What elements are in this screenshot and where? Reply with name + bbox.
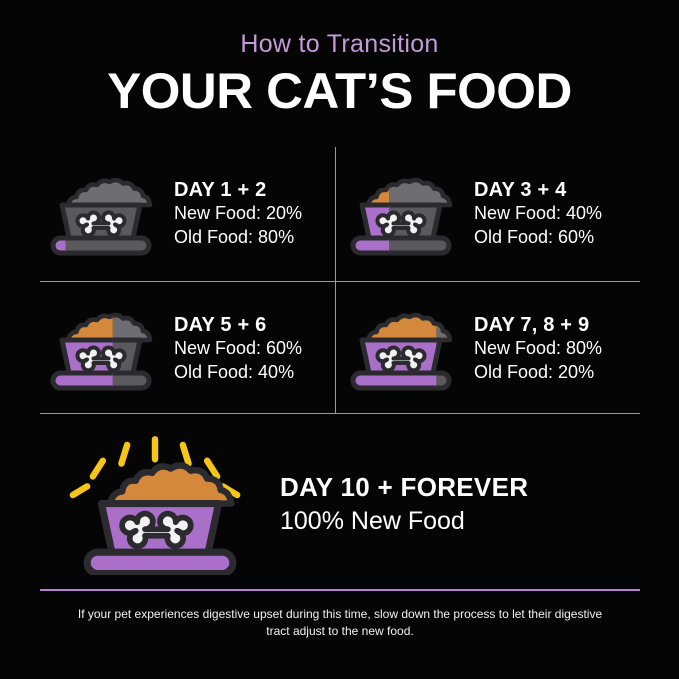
footer-note: If your pet experiences digestive upset … [70, 606, 610, 641]
cat-food-bowl-icon [65, 435, 245, 575]
header: How to Transition YOUR CAT’S FOOD [0, 30, 679, 117]
step-day-label: DAY 7, 8 + 9 [474, 314, 602, 337]
step-old-food: Old Food: 60% [474, 226, 602, 249]
bowl-wrap [340, 303, 462, 395]
bowl-wrap [40, 168, 162, 260]
step-text: DAY 5 + 6 New Food: 60% Old Food: 40% [162, 314, 302, 383]
step-old-food: Old Food: 20% [474, 361, 602, 384]
step-new-food: New Food: 80% [474, 337, 602, 360]
step-day-label: DAY 5 + 6 [174, 314, 302, 337]
step-new-food: New Food: 20% [174, 202, 302, 225]
cat-food-bowl-icon [342, 303, 460, 395]
step-card-day-7-8-9: DAY 7, 8 + 9 New Food: 80% Old Food: 20% [340, 282, 635, 416]
step-text: DAY 7, 8 + 9 New Food: 80% Old Food: 20% [462, 314, 602, 383]
kibble-old [68, 180, 150, 205]
bowl-wrap [40, 303, 162, 395]
cat-food-bowl-icon [42, 168, 160, 260]
step-card-day-5-6: DAY 5 + 6 New Food: 60% Old Food: 40% [40, 282, 335, 416]
infographic-page: How to Transition YOUR CAT’S FOOD [0, 0, 679, 679]
bowl-base-new [353, 373, 449, 388]
forever-subtitle: 100% New Food [280, 505, 528, 538]
cat-food-bowl-icon [42, 303, 160, 395]
cat-food-bowl-icon [342, 168, 460, 260]
step-text: DAY 3 + 4 New Food: 40% Old Food: 60% [462, 179, 602, 248]
step-day-label: DAY 3 + 4 [474, 179, 602, 202]
bowl-base-new [87, 552, 233, 573]
grid-vertical-divider [335, 147, 336, 413]
step-card-day-1-2: DAY 1 + 2 New Food: 20% Old Food: 80% [40, 147, 335, 281]
eyebrow-title: How to Transition [0, 30, 679, 59]
bowl-wrap [40, 435, 270, 575]
forever-card: DAY 10 + FOREVER 100% New Food [40, 430, 640, 580]
step-new-food: New Food: 40% [474, 202, 602, 225]
step-card-day-3-4: DAY 3 + 4 New Food: 40% Old Food: 60% [340, 147, 635, 281]
step-day-label: DAY 1 + 2 [174, 179, 302, 202]
page-title: YOUR CAT’S FOOD [0, 65, 679, 118]
bowl-wrap [340, 168, 462, 260]
step-text: DAY 1 + 2 New Food: 20% Old Food: 80% [162, 179, 302, 248]
bowl-base-old [53, 238, 149, 253]
transition-grid: DAY 1 + 2 New Food: 20% Old Food: 80% [40, 147, 640, 413]
step-new-food: New Food: 60% [174, 337, 302, 360]
forever-day-label: DAY 10 + FOREVER [280, 472, 528, 503]
footer-divider [40, 589, 640, 591]
step-old-food: Old Food: 80% [174, 226, 302, 249]
forever-text: DAY 10 + FOREVER 100% New Food [270, 472, 528, 538]
step-old-food: Old Food: 40% [174, 361, 302, 384]
